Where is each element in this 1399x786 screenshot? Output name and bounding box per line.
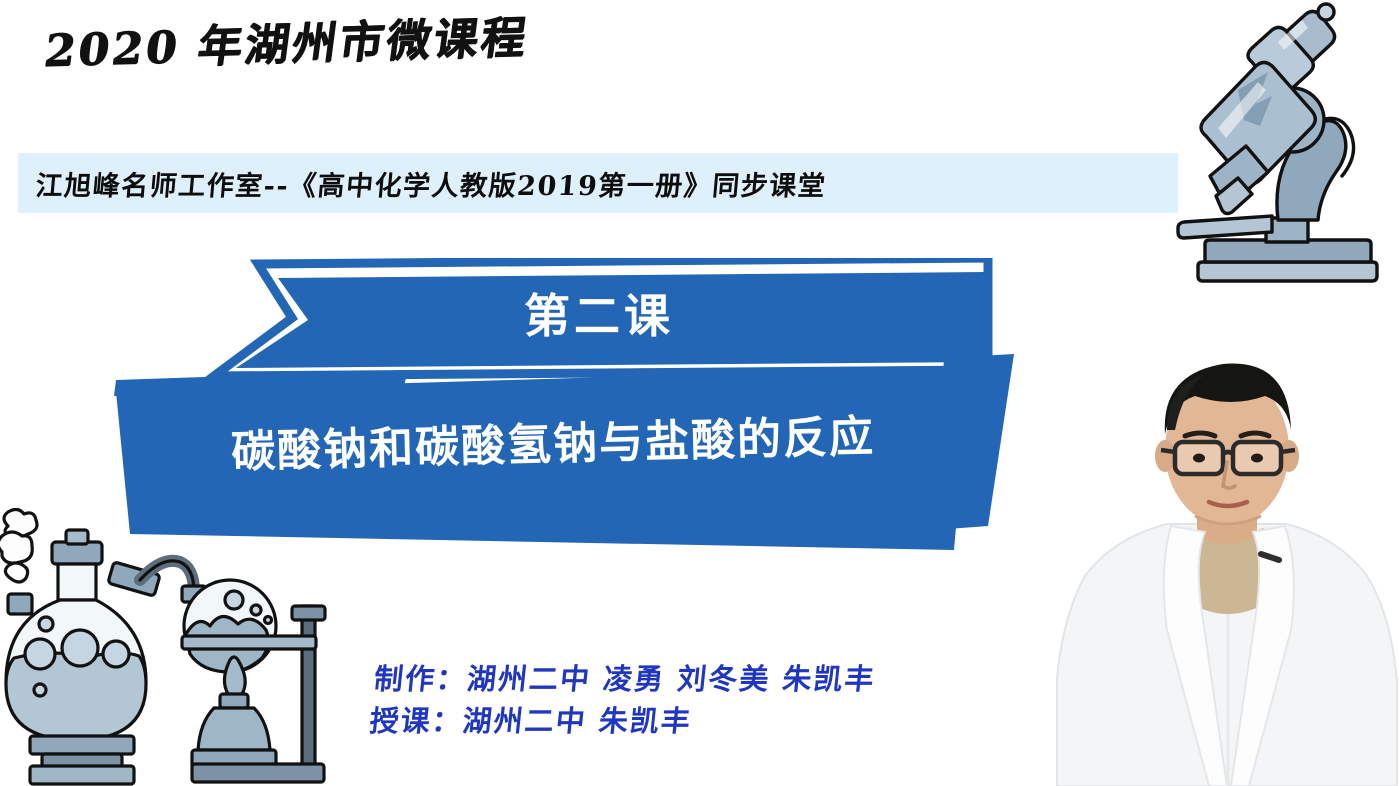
- credits-teaching-line: 授课：湖州二中 朱凯丰: [368, 700, 874, 742]
- microscope-icon: [1160, 0, 1395, 300]
- course-title: 2020 年湖州市微课程: [41, 1, 533, 78]
- lesson-number-label: 第二课: [144, 280, 1054, 346]
- presenter-photo: [1055, 338, 1399, 786]
- studio-banner-text: 江旭峰名师工作室--《高中化学人教版2019第一册》同步课堂: [16, 164, 828, 203]
- slide-canvas: 2020 年湖州市微课程 江旭峰名师工作室--《高中化学人教版2019第一册》同…: [0, 0, 1399, 786]
- lab-apparatus-icon: [0, 508, 344, 786]
- credits-block: 制作：湖州二中 凌勇 刘冬美 朱凯丰 授课：湖州二中 朱凯丰: [368, 658, 878, 742]
- credits-production-line: 制作：湖州二中 凌勇 刘冬美 朱凯丰: [372, 658, 878, 700]
- studio-banner: 江旭峰名师工作室--《高中化学人教版2019第一册》同步课堂: [18, 153, 1178, 213]
